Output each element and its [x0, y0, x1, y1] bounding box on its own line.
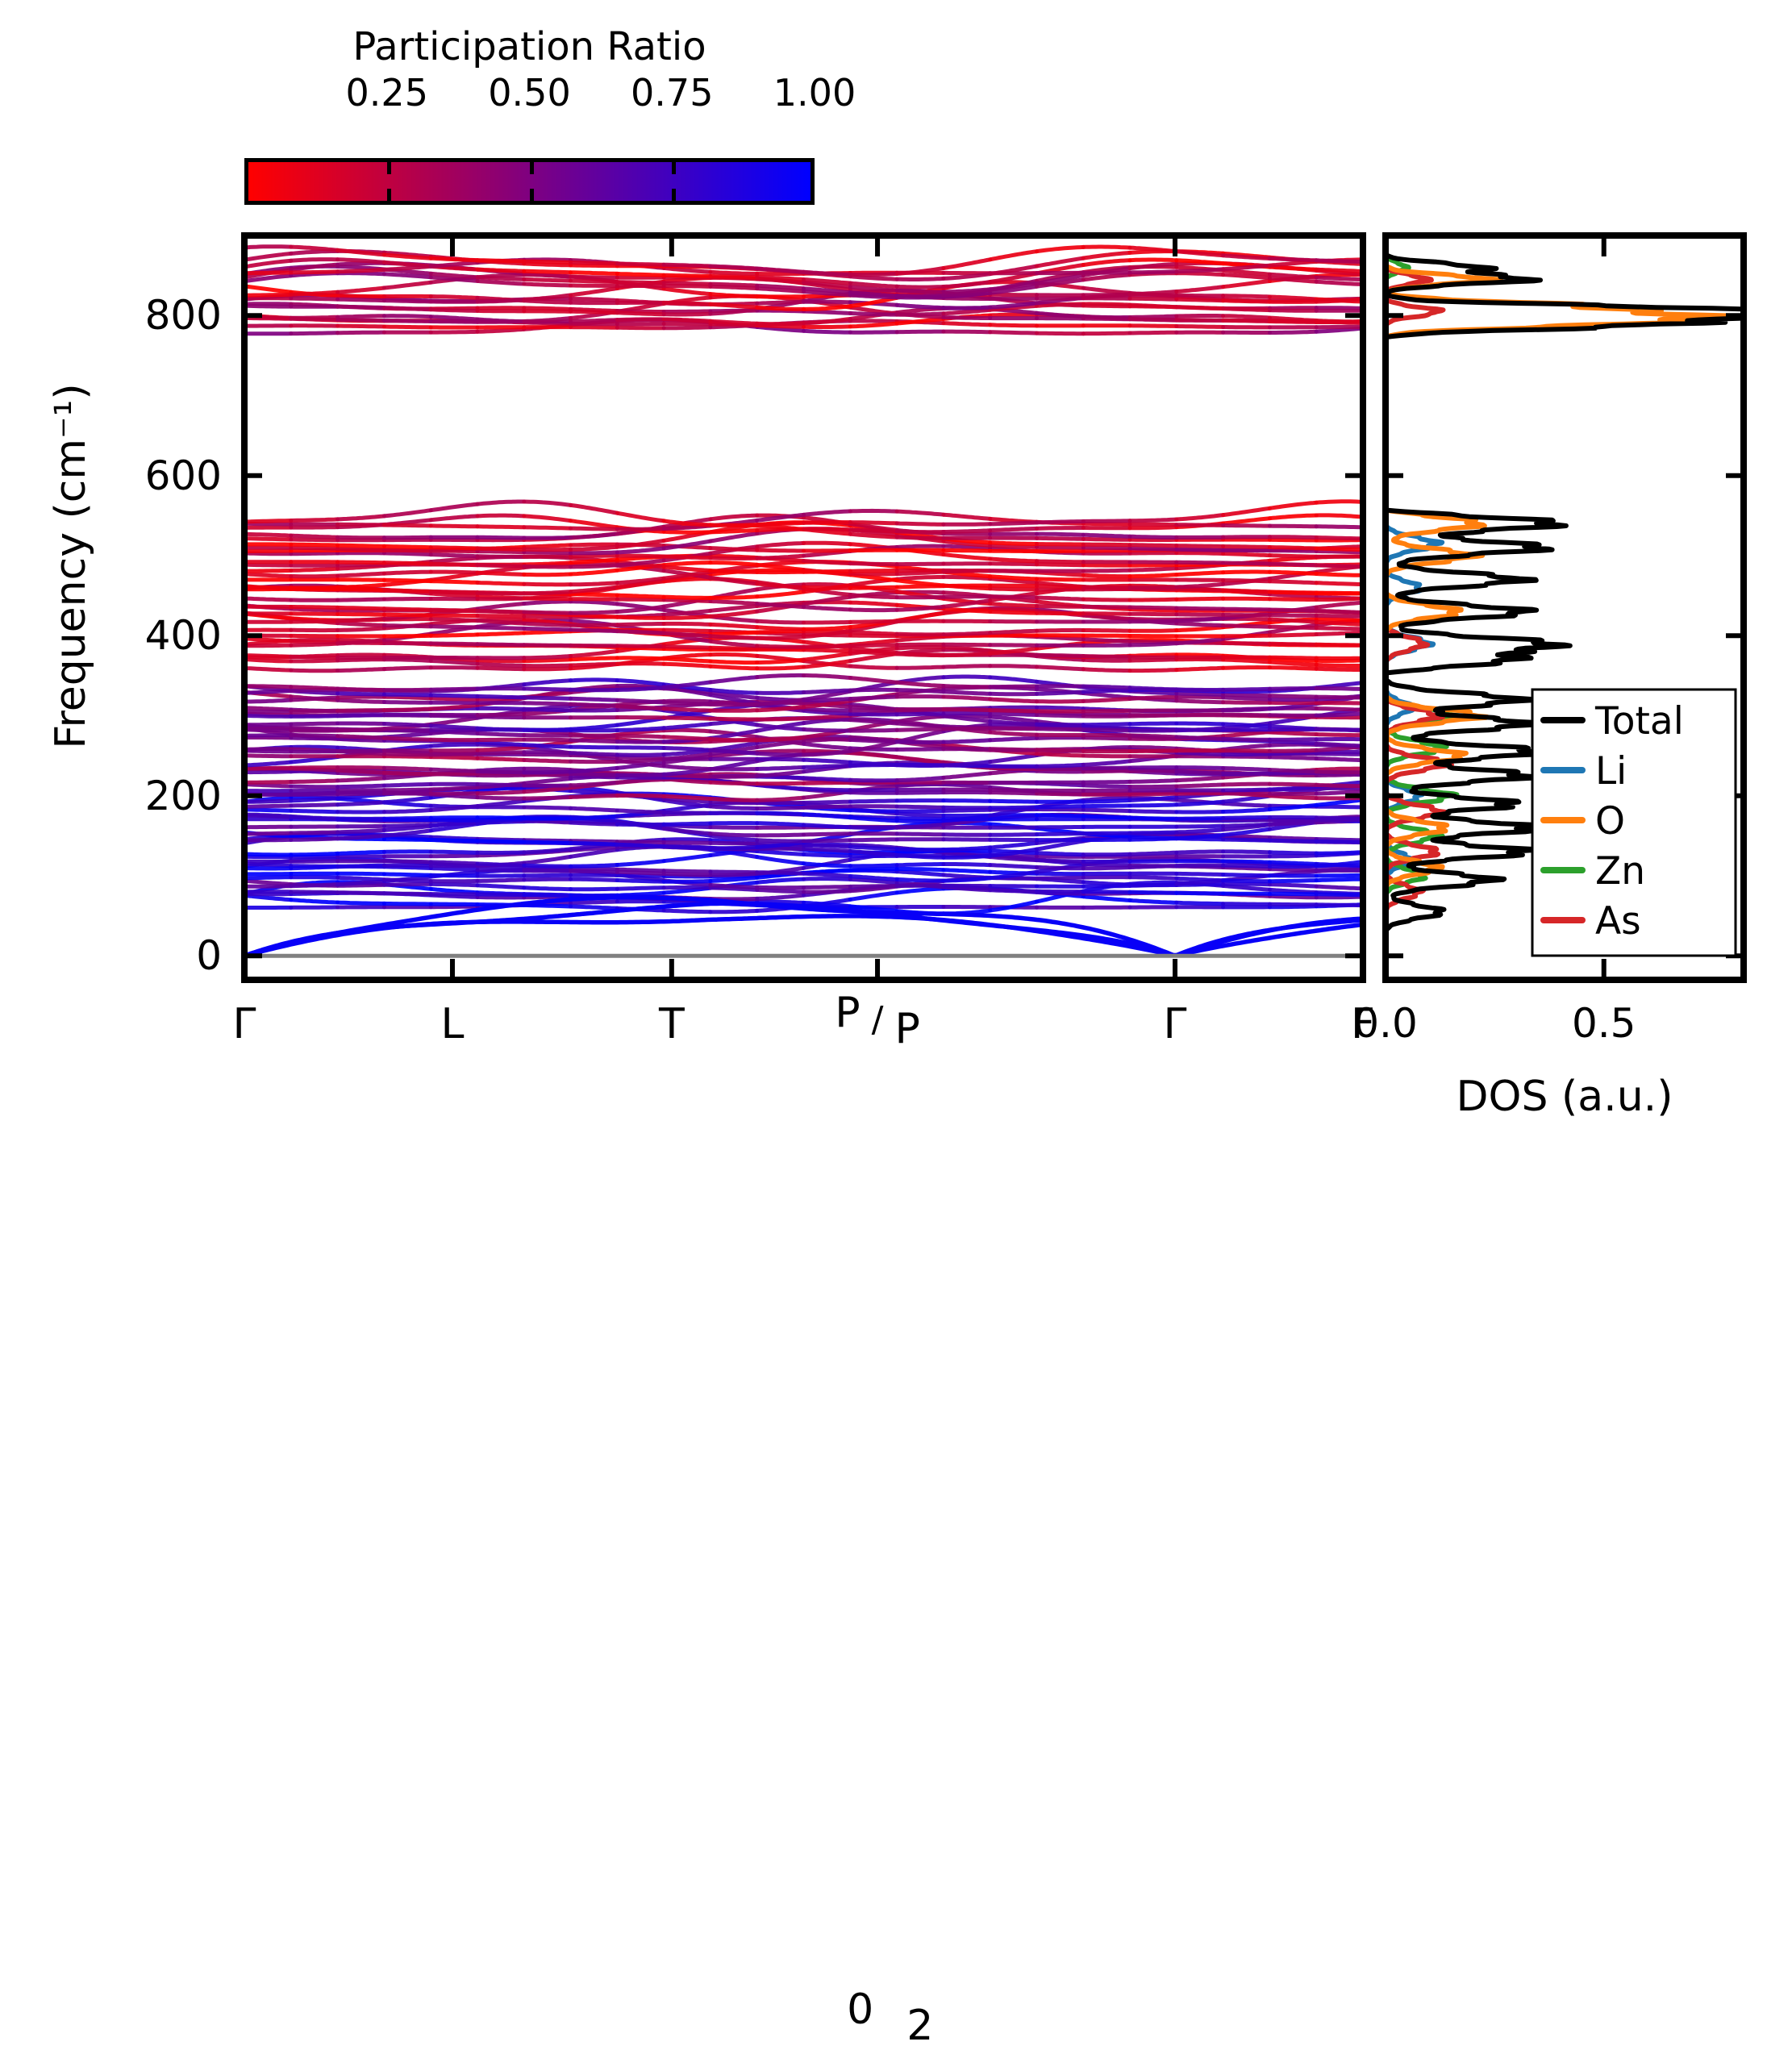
phonon-figure: Participation Ratio 0.250.500.751.00 Fre…	[0, 0, 1792, 1173]
dos-x-axis-tick-label: 0.5	[1572, 1000, 1636, 1047]
legend-label-zn: Zn	[1595, 849, 1645, 894]
dos-x-axis-label: DOS (a.u.)	[1386, 1073, 1744, 1121]
legend-label-o: O	[1595, 799, 1625, 844]
legend-label-as: As	[1595, 899, 1641, 944]
legend-label-total: Total	[1594, 699, 1684, 744]
x-axis-tick-label: T	[659, 1000, 685, 1048]
x-axis-tick-label: P0/P2	[846, 994, 909, 1035]
dos-x-axis-tick-label: 0.0	[1353, 1000, 1418, 1047]
band-structure-lines	[244, 247, 1363, 956]
x-axis-tick-label: Γ	[233, 1000, 256, 1048]
legend-label-li: Li	[1595, 749, 1627, 794]
x-axis-tick-label: Γ	[1163, 1000, 1186, 1048]
x-axis-tick-label: L	[440, 1000, 464, 1048]
dos-legend: TotalLiOZnAs	[1532, 690, 1736, 956]
